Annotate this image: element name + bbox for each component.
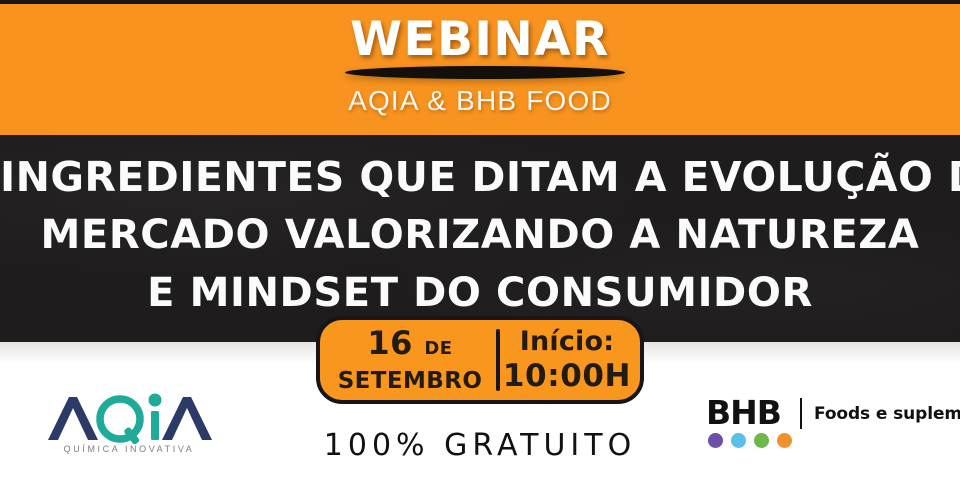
bhb-logo: BHB Foods e suplementos <box>706 396 956 454</box>
badge-day-row: 16 DE <box>324 326 496 367</box>
badge-start-time: 10:00H <box>500 358 634 394</box>
date-time-badge: 16 DE SETEMBRO Início: 10:00H <box>316 316 644 404</box>
aqia-wordmark-icon <box>44 392 214 444</box>
aqia-logo: QUÍMICA INOVATIVA <box>44 392 214 466</box>
headline-line-3: E MINDSET DO CONSUMIDOR <box>0 264 960 322</box>
headline-line-1: INGREDIENTES QUE DITAM A EVOLUÇÃO DO <box>0 148 960 206</box>
bhb-dot-row <box>708 433 792 448</box>
bhb-divider <box>800 398 802 429</box>
bhb-dot-1 <box>708 433 723 448</box>
webinar-title: WEBINAR <box>0 14 960 66</box>
badge-date-group: 16 DE SETEMBRO <box>320 326 496 395</box>
bhb-dot-2 <box>731 433 746 448</box>
badge-month-name: SETEMBRO <box>324 367 496 395</box>
header-subtitle: AQIA & BHB FOOD <box>0 84 960 118</box>
webinar-banner: WEBINAR AQIA & BHB FOOD INGREDIENTES QUE… <box>0 0 960 489</box>
badge-start-label: Início: <box>500 326 634 358</box>
headline-line-2: MERCADO VALORIZANDO A NATUREZA <box>0 206 960 264</box>
badge-day-number: 16 <box>367 324 413 362</box>
aqia-tagline: QUÍMICA INOVATIVA <box>44 444 214 454</box>
bhb-wordmark: BHB <box>706 396 781 430</box>
bhb-dot-4 <box>777 433 792 448</box>
header-divider-ellipse <box>345 66 625 79</box>
headline-block: INGREDIENTES QUE DITAM A EVOLUÇÃO DO MER… <box>0 148 960 322</box>
bhb-tagline: Foods e suplementos <box>814 404 960 424</box>
bhb-dot-3 <box>754 433 769 448</box>
badge-de-word: DE <box>424 338 452 359</box>
badge-time-group: Início: 10:00H <box>500 326 640 394</box>
free-label: 100% GRATUITO <box>240 428 720 463</box>
